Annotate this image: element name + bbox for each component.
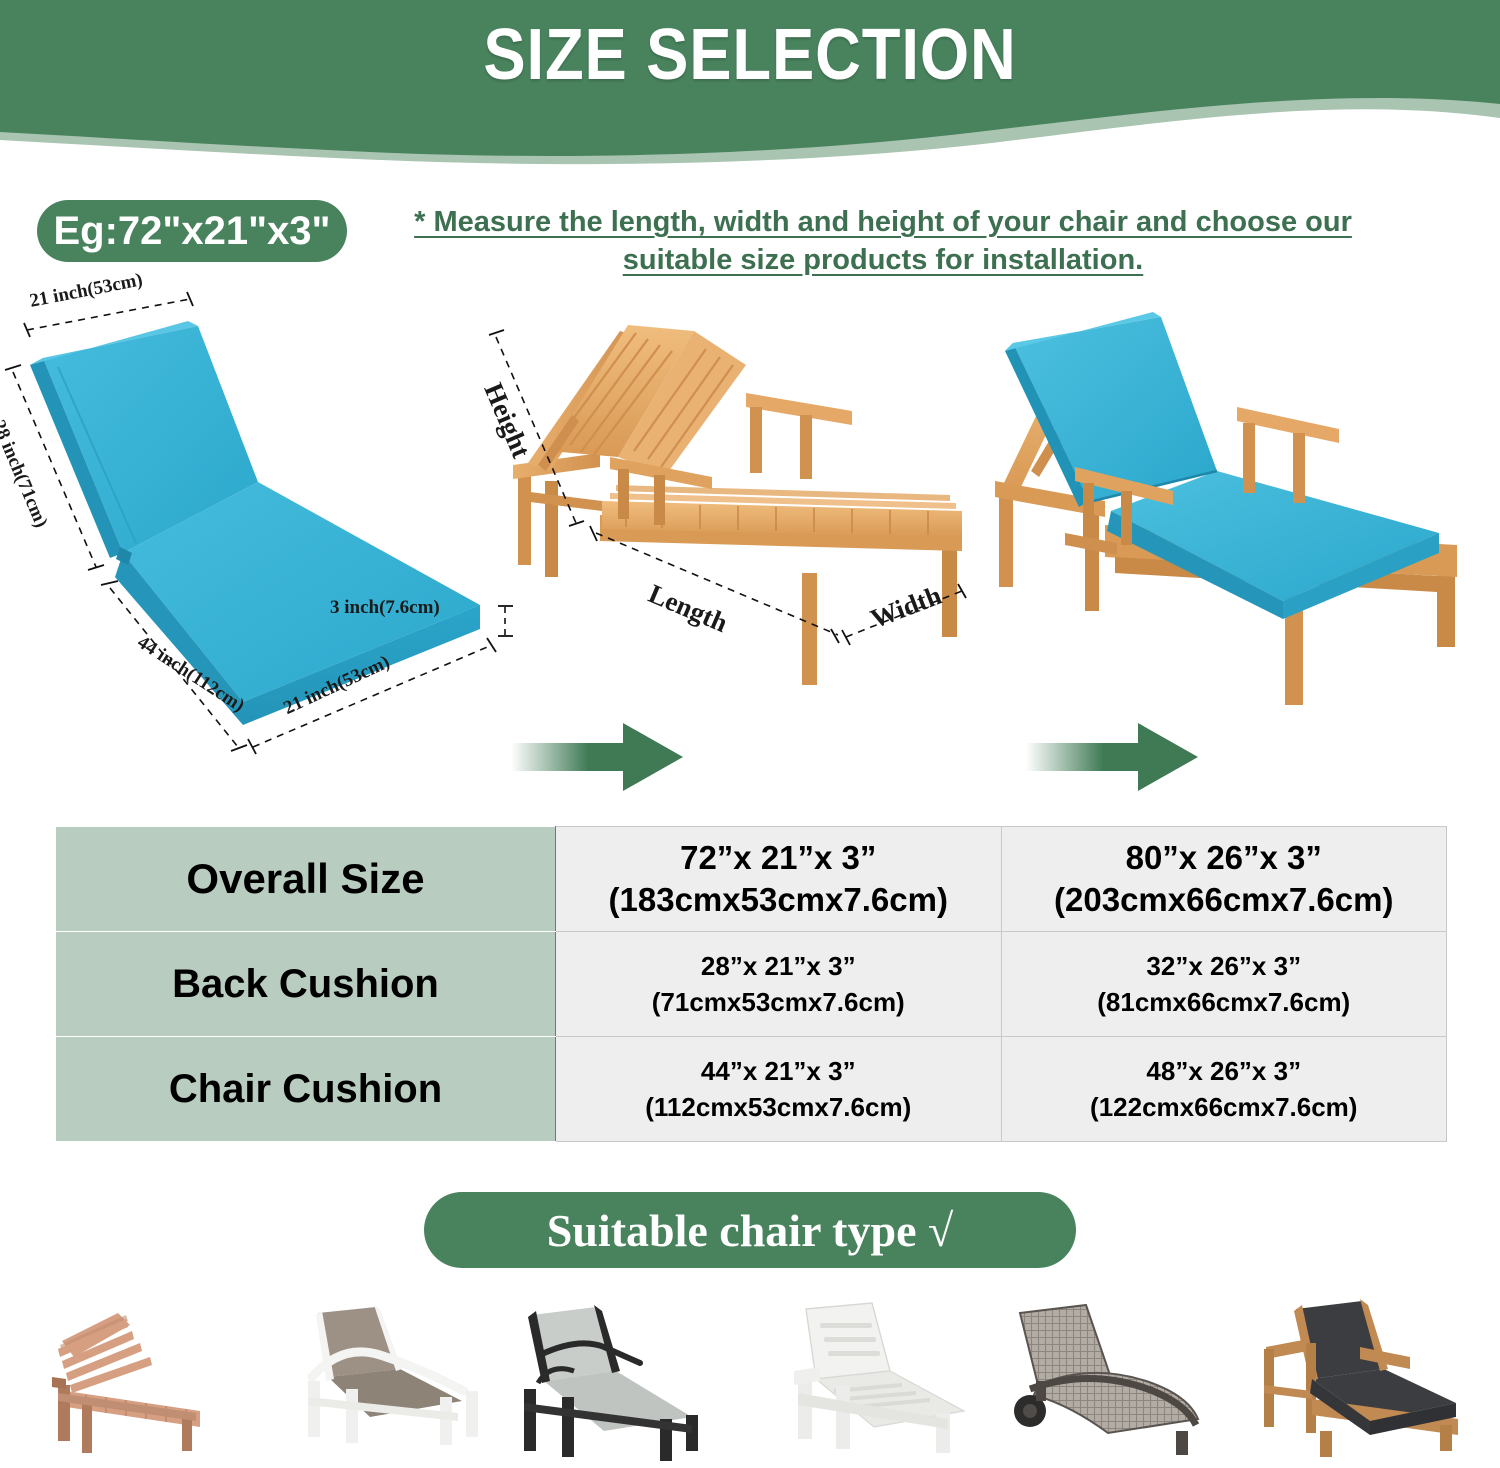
row-label-overall-size: Overall Size [56,827,556,932]
chair-thumb-wood-frame-dark-cushion-lounger [1250,1285,1500,1468]
back-cushion-b-inch: 32”x 26”x 3” [1002,948,1447,984]
wooden-slat-lounger-icon [0,1285,250,1468]
example-size-badge: Eg:72"x21"x3" [37,200,347,262]
overall-size-b-inch: 80”x 26”x 3” [1002,837,1447,879]
page-header: SIZE SELECTION [0,0,1500,175]
chaise-with-cushion-graphic [965,295,1490,725]
page-title: SIZE SELECTION [90,14,1410,96]
chair-thumb-black-frame-gray-sling-lounger [500,1285,750,1468]
flow-arrow-2 [1020,717,1210,797]
chair-cushion-b-inch: 48”x 26”x 3” [1002,1053,1447,1089]
white-plastic-lounger-icon [750,1285,1000,1468]
cell-back-cushion-b: 32”x 26”x 3” (81cmx66cmx7.6cm) [1001,932,1447,1037]
result-diagram-panel [965,295,1490,725]
flow-arrow-1 [505,717,695,797]
diagram-stage: 21 inch(53cm) 28 inch(71cm) 44 inch(112c… [0,285,1500,805]
black-frame-gray-sling-lounger-icon [500,1285,750,1468]
chair-thumb-white-frame-sling-lounger [250,1285,500,1468]
suitable-chair-thumbnails [0,1285,1500,1468]
chair-thumb-gray-wicker-lounger [1000,1285,1250,1468]
back-cushion-b-cm: (81cmx66cmx7.6cm) [1002,984,1447,1020]
suitable-chair-type-banner: Suitable chair type √ [424,1192,1076,1268]
chair-thumb-white-plastic-lounger [750,1285,1000,1468]
overall-size-a-cm: (183cmx53cmx7.6cm) [556,879,1001,921]
overall-size-a-inch: 72”x 21”x 3” [556,837,1001,879]
chair-thumb-wooden-slat-lounger [0,1285,250,1468]
wooden-chaise-graphic [450,305,980,725]
white-frame-sling-lounger-icon [250,1285,500,1468]
size-spec-table: Overall Size 72”x 21”x 3” (183cmx53cmx7.… [55,826,1447,1142]
chair-diagram-panel: Height Length Width [450,305,980,725]
table-row: Chair Cushion 44”x 21”x 3” (112cmx53cmx7… [56,1037,1447,1142]
cushion-thickness-label: 3 inch(7.6cm) [330,597,440,619]
chair-cushion-a-cm: (112cmx53cmx7.6cm) [556,1089,1001,1125]
back-cushion-a-cm: (71cmx53cmx7.6cm) [556,984,1001,1020]
measure-instruction-note: * Measure the length, width and height o… [378,203,1388,279]
chair-cushion-b-cm: (122cmx66cmx7.6cm) [1002,1089,1447,1125]
table-row: Back Cushion 28”x 21”x 3” (71cmx53cmx7.6… [56,932,1447,1037]
cell-overall-size-a: 72”x 21”x 3” (183cmx53cmx7.6cm) [556,827,1002,932]
row-label-chair-cushion: Chair Cushion [56,1037,556,1142]
row-label-back-cushion: Back Cushion [56,932,556,1037]
cell-chair-cushion-a: 44”x 21”x 3” (112cmx53cmx7.6cm) [556,1037,1002,1142]
cell-chair-cushion-b: 48”x 26”x 3” (122cmx66cmx7.6cm) [1001,1037,1447,1142]
overall-size-b-cm: (203cmx66cmx7.6cm) [1002,879,1447,921]
back-cushion-a-inch: 28”x 21”x 3” [556,948,1001,984]
wood-frame-dark-cushion-lounger-icon [1250,1285,1500,1468]
chair-cushion-a-inch: 44”x 21”x 3” [556,1053,1001,1089]
gray-wicker-lounger-icon [1000,1285,1250,1468]
table-row: Overall Size 72”x 21”x 3” (183cmx53cmx7.… [56,827,1447,932]
cell-back-cushion-a: 28”x 21”x 3” (71cmx53cmx7.6cm) [556,932,1002,1037]
cell-overall-size-b: 80”x 26”x 3” (203cmx66cmx7.6cm) [1001,827,1447,932]
